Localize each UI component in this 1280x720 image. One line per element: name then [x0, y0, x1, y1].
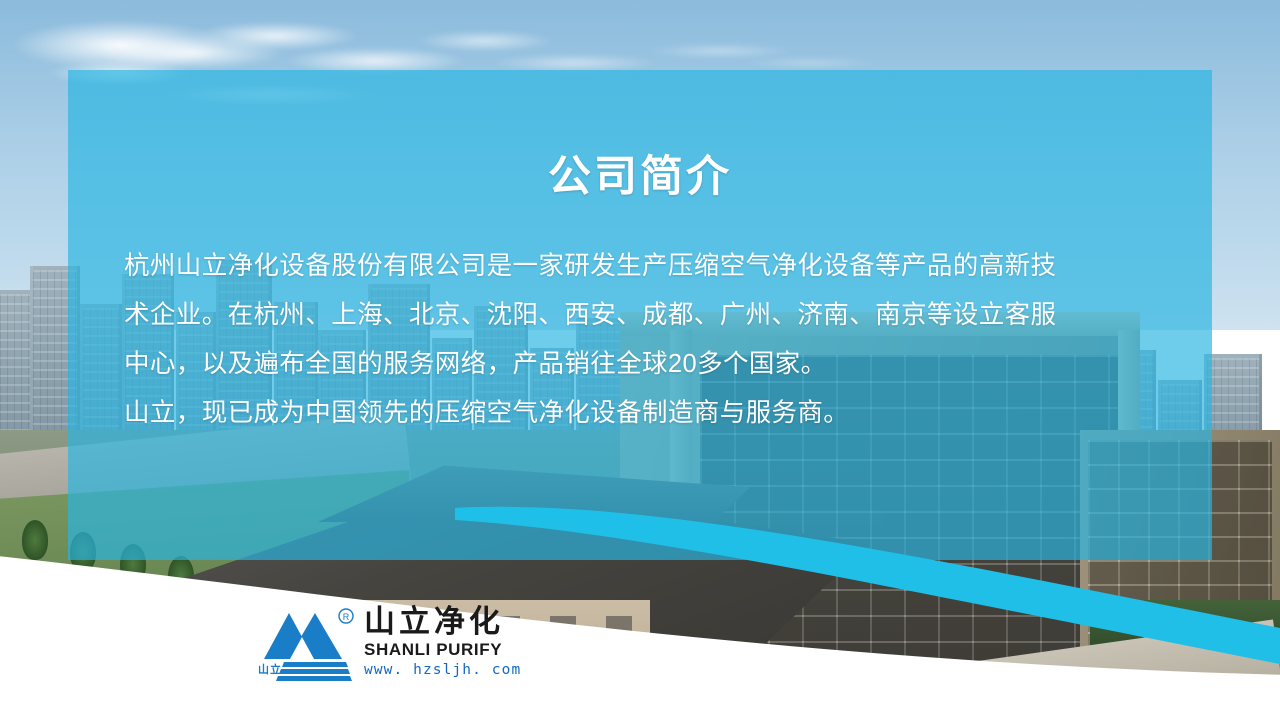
registered-trademark-icon: R — [339, 609, 353, 623]
base-band-icon — [276, 676, 352, 681]
body-paragraph: 杭州山立净化设备股份有限公司是一家研发生产压缩空气净化设备等产品的高新技 术企业… — [124, 242, 1160, 438]
brand-name-cn: 山立净化 — [364, 607, 521, 639]
body-line-2: 术企业。在杭州、上海、北京、沈阳、西安、成都、广州、济南、南京等设立客服 — [124, 291, 1160, 340]
logo-text-group: 山立净化 SHANLI PURIFY www. hzsljh. com — [364, 607, 521, 681]
page-title: 公司简介 — [68, 142, 1212, 204]
slide-canvas: 公司简介 杭州山立净化设备股份有限公司是一家研发生产压缩空气净化设备等产品的高新… — [0, 0, 1280, 720]
svg-text:R: R — [343, 612, 350, 622]
brand-name-en: SHANLI PURIFY — [364, 640, 521, 660]
shanli-mountain-mark-icon: R 山立 — [258, 607, 354, 681]
base-band-icon — [282, 662, 348, 667]
content-area: 公司简介 杭州山立净化设备股份有限公司是一家研发生产压缩空气净化设备等产品的高新… — [68, 70, 1212, 560]
body-line-1: 杭州山立净化设备股份有限公司是一家研发生产压缩空气净化设备等产品的高新技 — [124, 242, 1160, 291]
white-curve-shape — [0, 550, 1280, 720]
mark-caption: 山立 — [258, 661, 282, 677]
company-logo[interactable]: R 山立 山立净化 SHANLI PURIFY www. hzsljh. com — [258, 607, 521, 681]
bottom-decoration — [0, 490, 1280, 720]
body-line-3: 中心，以及遍布全国的服务网络，产品销往全球20多个国家。 — [124, 340, 1160, 389]
brand-website[interactable]: www. hzsljh. com — [364, 662, 521, 679]
base-band-icon — [279, 669, 350, 674]
body-line-4: 山立，现已成为中国领先的压缩空气净化设备制造商与服务商。 — [124, 389, 1160, 438]
